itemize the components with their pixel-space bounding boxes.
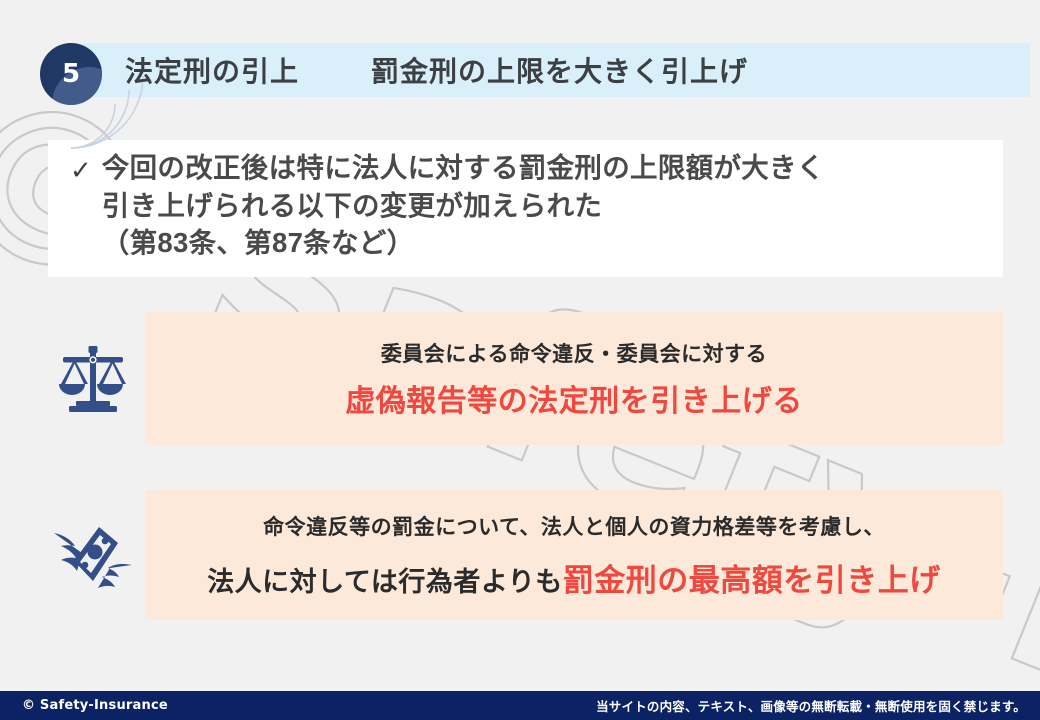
statement-2-highlight: 罰金刑の最高額を引き上げ xyxy=(563,563,941,598)
statement-box-2: 命令違反等の罰金について、法人と個人の資力格差等を考慮し、 法人に対しては行為者… xyxy=(145,490,1003,620)
badge-number: 5 xyxy=(62,59,80,89)
footer-notice: 当サイトの内容、テキスト、画像等の無断転載・無断使用を固く禁じます。 xyxy=(596,696,1026,715)
statement-box-1: 委員会による命令違反・委員会に対する 虚偽報告等の法定刑を引き上げる xyxy=(145,312,1003,445)
intro-line-3: （第83条、第87条など） xyxy=(102,224,825,262)
header-title-group: 法定刑の引上 罰金刑の上限を大きく引上げ xyxy=(125,43,748,97)
statement-2-line-2: 法人に対しては行為者よりも罰金刑の最高額を引き上げ xyxy=(207,555,941,600)
statement-row-2: 命令違反等の罰金について、法人と個人の資力格差等を考慮し、 法人に対しては行為者… xyxy=(40,490,1003,620)
intro-line-1: 今回の改正後は特に法人に対する罰金刑の上限額が大きく xyxy=(102,149,825,187)
footer-bar: © Safety-Insurance 当サイトの内容、テキスト、画像等の無断転載… xyxy=(0,691,1040,720)
statement-2-line-1: 命令違反等の罰金について、法人と個人の資力格差等を考慮し、 xyxy=(263,511,885,541)
intro-line-2: 引き上げられる以下の変更が加えられた xyxy=(102,187,825,225)
footer-copyright: © Safety-Insurance xyxy=(22,698,168,713)
scales-of-justice-icon xyxy=(40,312,145,445)
header-title-left: 法定刑の引上 xyxy=(125,50,299,90)
statement-1-subtitle: 委員会による命令違反・委員会に対する xyxy=(381,338,767,368)
header-title-right: 罰金刑の上限を大きく引上げ xyxy=(371,50,748,90)
intro-text-block: 今回の改正後は特に法人に対する罰金刑の上限額が大きく 引き上げられる以下の変更が… xyxy=(102,149,825,262)
statement-row-1: 委員会による命令違反・委員会に対する 虚偽報告等の法定刑を引き上げる xyxy=(40,312,1003,445)
badge-circle: 5 xyxy=(40,43,102,105)
intro-card: ✓ 今回の改正後は特に法人に対する罰金刑の上限額が大きく 引き上げられる以下の変… xyxy=(48,140,1003,277)
statement-1-main: 虚偽報告等の法定刑を引き上げる xyxy=(345,376,803,420)
flying-money-icon xyxy=(40,490,145,620)
slide-canvas: © Safety-Insurance 5 法定刑の引上 罰金刑の上限を大きく引上… xyxy=(0,0,1040,720)
statement-2-plain: 法人に対しては行為者よりも xyxy=(207,567,563,597)
check-icon: ✓ xyxy=(70,156,92,186)
